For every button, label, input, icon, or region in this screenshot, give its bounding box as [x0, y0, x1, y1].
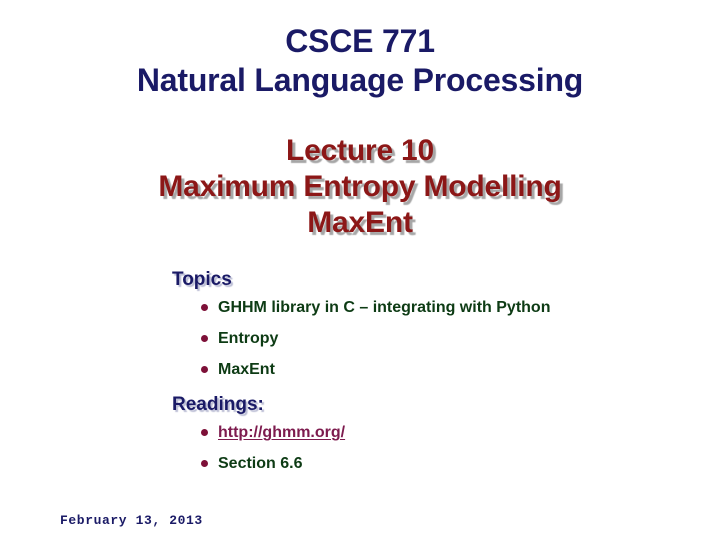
readings-link[interactable]: http://ghmm.org/ — [218, 424, 345, 441]
bullet-dot-icon — [201, 304, 208, 311]
topics-heading: Topics — [172, 268, 712, 292]
slide-title: CSCE 771 Natural Language Processing — [0, 22, 720, 100]
readings-item-label: Section 6.6 — [218, 455, 302, 472]
topics-item-label: GHHM library in C – integrating with Pyt… — [218, 299, 550, 316]
subtitle-line-1: Lecture 10 — [0, 133, 720, 169]
readings-heading: Readings: — [172, 393, 712, 417]
title-line-1: CSCE 771 — [0, 22, 720, 61]
list-item: MaxEnt — [218, 360, 712, 379]
slide-body: Topics GHHM library in C – integrating w… — [172, 268, 712, 485]
list-item: Entropy — [218, 329, 712, 348]
slide-canvas: CSCE 771 Natural Language Processing Lec… — [0, 0, 720, 540]
topics-item-label: MaxEnt — [218, 361, 275, 378]
readings-list: http://ghmm.org/ Section 6.6 — [172, 423, 712, 473]
slide-subtitle: Lecture 10 Maximum Entropy Modelling Max… — [0, 133, 720, 241]
title-line-2: Natural Language Processing — [0, 61, 720, 100]
list-item: Section 6.6 — [218, 454, 712, 473]
list-item: http://ghmm.org/ — [218, 423, 712, 442]
topics-item-label: Entropy — [218, 330, 278, 347]
slide-date: February 13, 2013 — [60, 513, 203, 528]
list-item: GHHM library in C – integrating with Pyt… — [218, 298, 712, 317]
bullet-dot-icon — [201, 335, 208, 342]
bullet-dot-icon — [201, 429, 208, 436]
subtitle-line-3: MaxEnt — [0, 205, 720, 241]
topics-list: GHHM library in C – integrating with Pyt… — [172, 298, 712, 379]
subtitle-line-2: Maximum Entropy Modelling — [0, 169, 720, 205]
bullet-dot-icon — [201, 460, 208, 467]
bullet-dot-icon — [201, 366, 208, 373]
